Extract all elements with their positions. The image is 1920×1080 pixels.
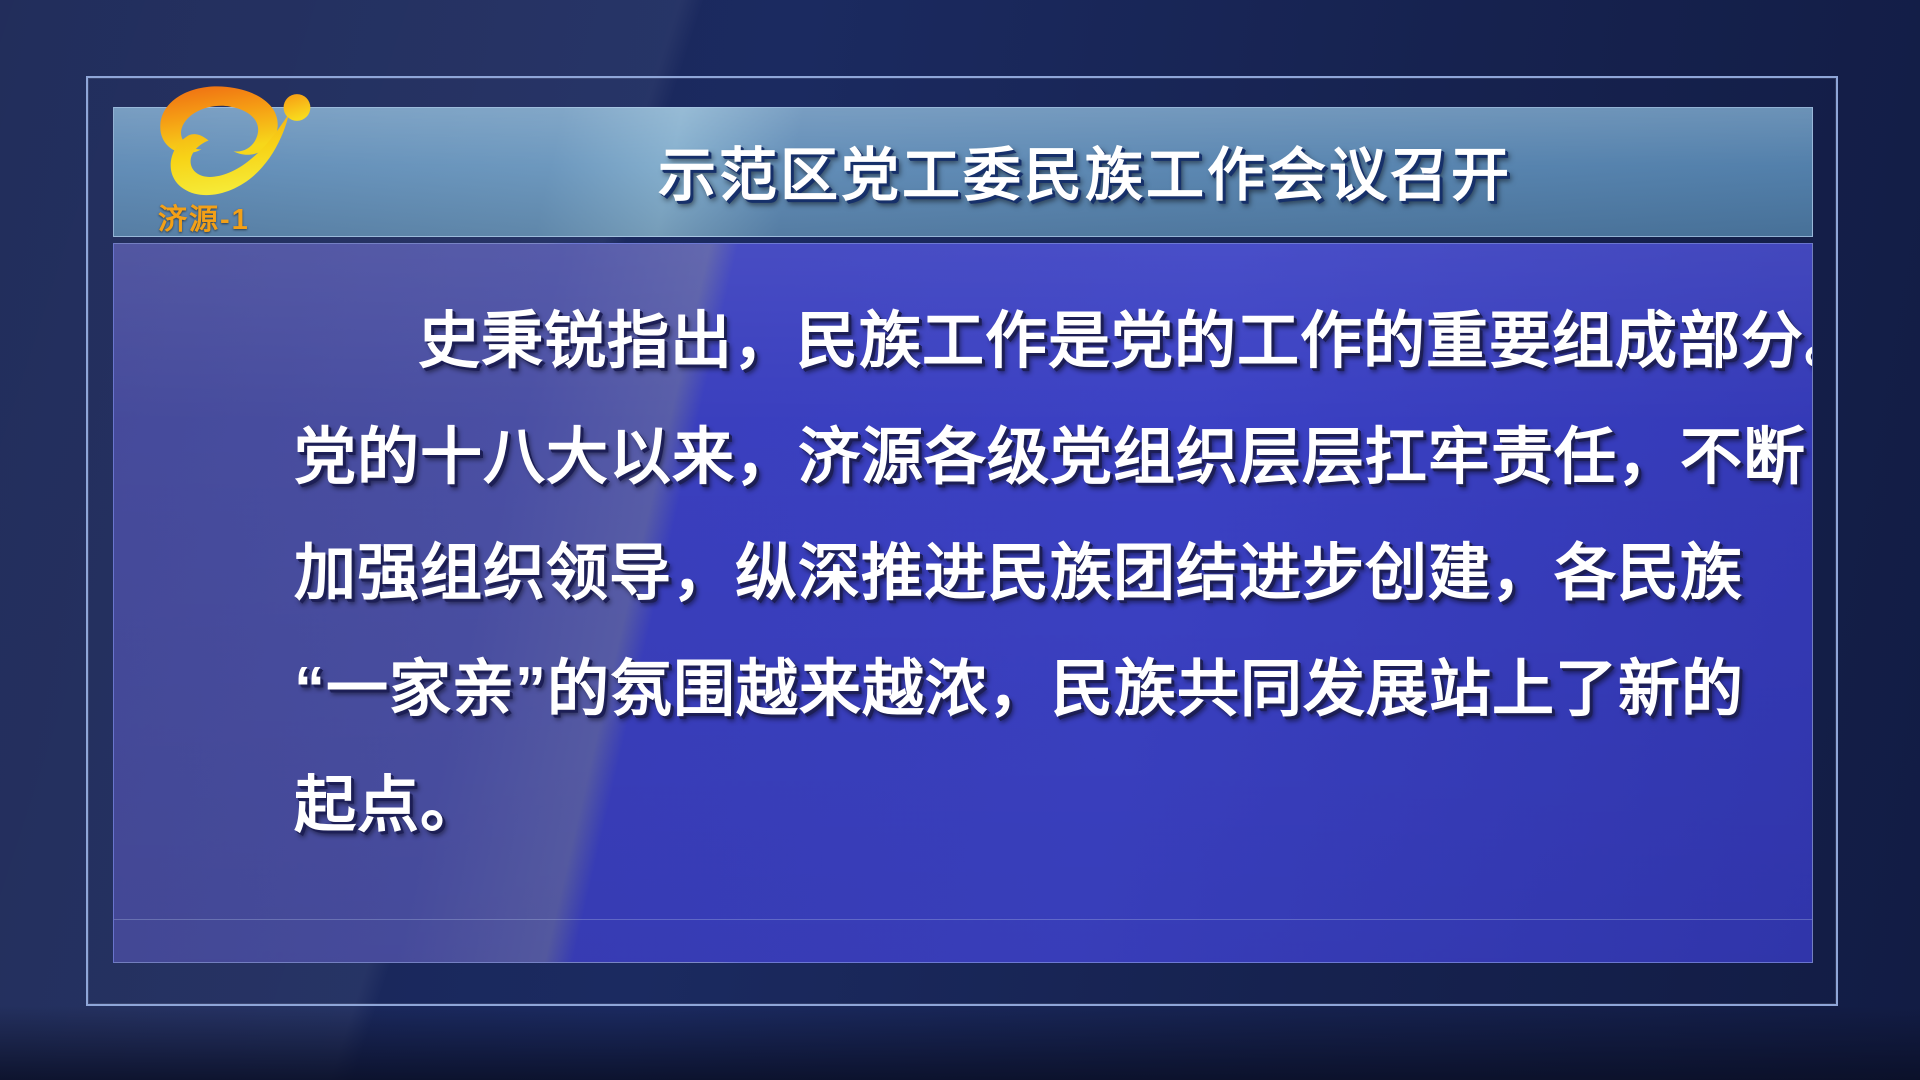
channel-logo: 济源-1 [140,78,350,248]
page-title: 示范区党工委民族工作会议召开 [440,128,1730,212]
bottom-vignette [0,1006,1920,1080]
body-paragraph: 史秉锐指出，民族工作是党的工作的重要组成部分。 党的十八大以来，济源各级党组织层… [294,284,1714,864]
body-line: 起点。 [294,748,1714,864]
broadcast-lower-third-stage: 济源-1 示范区党工委民族工作会议召开 史秉锐指出，民族工作是党的工作的重要组成… [0,0,1920,1080]
panel-divider [114,919,1812,920]
jiyuan-bird-logo-icon [140,78,350,203]
body-line: 史秉锐指出，民族工作是党的工作的重要组成部分。 [294,284,1714,400]
body-line: 加强组织领导，纵深推进民族团结进步创建，各民族 [294,516,1714,632]
body-line: 党的十八大以来，济源各级党组织层层扛牢责任，不断 [294,400,1714,516]
body-line: “一家亲”的氛围越来越浓，民族共同发展站上了新的 [294,632,1714,748]
channel-name-label: 济源-1 [158,196,250,238]
body-panel: 史秉锐指出，民族工作是党的工作的重要组成部分。 党的十八大以来，济源各级党组织层… [113,243,1813,963]
